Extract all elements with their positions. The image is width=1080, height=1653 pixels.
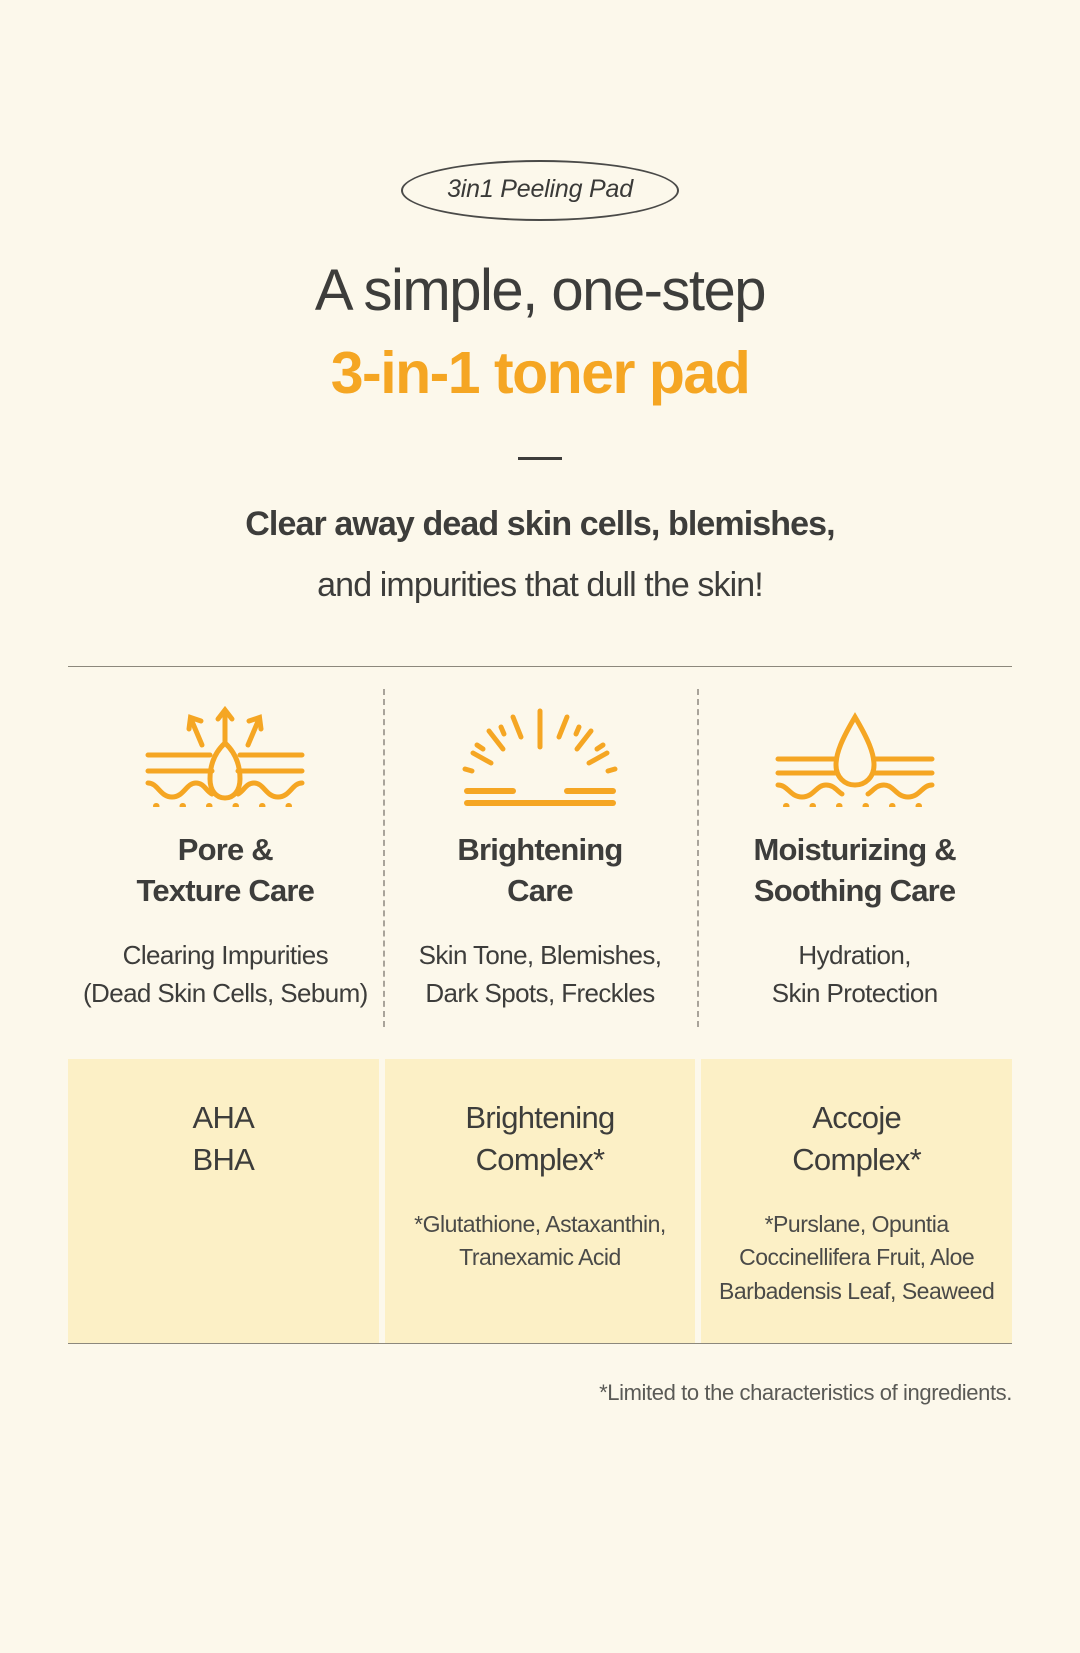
feature-description: Skin Tone, Blemishes, Dark Spots, Freckl… bbox=[389, 936, 692, 1013]
ingredient-subtext: *Glutathione, Astaxanthin, Tranexamic Ac… bbox=[399, 1208, 682, 1275]
subtitle: Clear away dead skin cells, blemishes, a… bbox=[0, 500, 1080, 610]
ingredient-grid: AHA BHA Brightening Complex* *Glutathion… bbox=[68, 1059, 1012, 1343]
badge-container: 3in1 Peeling Pad bbox=[0, 160, 1080, 221]
ingredient-title: Brightening Complex* bbox=[399, 1097, 682, 1183]
feature-title: Moisturizing & Soothing Care bbox=[703, 829, 1006, 912]
infographic-page: 3in1 Peeling Pad A simple, one-step 3-in… bbox=[0, 0, 1080, 1653]
headline-line-2-accent: 3-in-1 toner pad bbox=[0, 339, 1080, 409]
product-badge: 3in1 Peeling Pad bbox=[401, 160, 679, 221]
ingredient-subtext: *Purslane, Opuntia Coccinellifera Fruit,… bbox=[715, 1208, 998, 1308]
ingredient-title: AHA BHA bbox=[82, 1097, 365, 1183]
ingredient-box-aha-bha: AHA BHA bbox=[68, 1059, 379, 1343]
feature-column-pore-texture: Pore & Texture Care Clearing Impurities … bbox=[68, 667, 383, 1037]
feature-title: Pore & Texture Care bbox=[74, 829, 377, 912]
footnote: *Limited to the characteristics of ingre… bbox=[68, 1380, 1012, 1406]
subtitle-line-1: Clear away dead skin cells, blemishes, bbox=[0, 500, 1080, 548]
ingredient-box-accoje-complex: Accoje Complex* *Purslane, Opuntia Cocci… bbox=[701, 1059, 1012, 1343]
feature-description: Clearing Impurities (Dead Skin Cells, Se… bbox=[74, 936, 377, 1013]
feature-column-brightening: Brightening Care Skin Tone, Blemishes, D… bbox=[383, 667, 698, 1037]
sunburst-brightening-icon bbox=[389, 695, 692, 807]
page-title: A simple, one-step 3-in-1 toner pad bbox=[0, 257, 1080, 409]
feature-description: Hydration, Skin Protection bbox=[703, 936, 1006, 1013]
divider-dash bbox=[518, 457, 562, 460]
water-droplet-hydration-icon bbox=[703, 695, 1006, 807]
feature-column-moisturizing: Moisturizing & Soothing Care Hydration, … bbox=[697, 667, 1012, 1037]
headline-line-1: A simple, one-step bbox=[0, 257, 1080, 325]
ingredient-box-brightening-complex: Brightening Complex* *Glutathione, Astax… bbox=[385, 1059, 696, 1343]
pore-extraction-icon bbox=[74, 695, 377, 807]
feature-grid: Pore & Texture Care Clearing Impurities … bbox=[68, 667, 1012, 1037]
ingredient-title: Accoje Complex* bbox=[715, 1097, 998, 1183]
subtitle-line-2: and impurities that dull the skin! bbox=[0, 561, 1080, 609]
feature-table-bottom-rule bbox=[68, 1343, 1012, 1344]
feature-title: Brightening Care bbox=[389, 829, 692, 912]
